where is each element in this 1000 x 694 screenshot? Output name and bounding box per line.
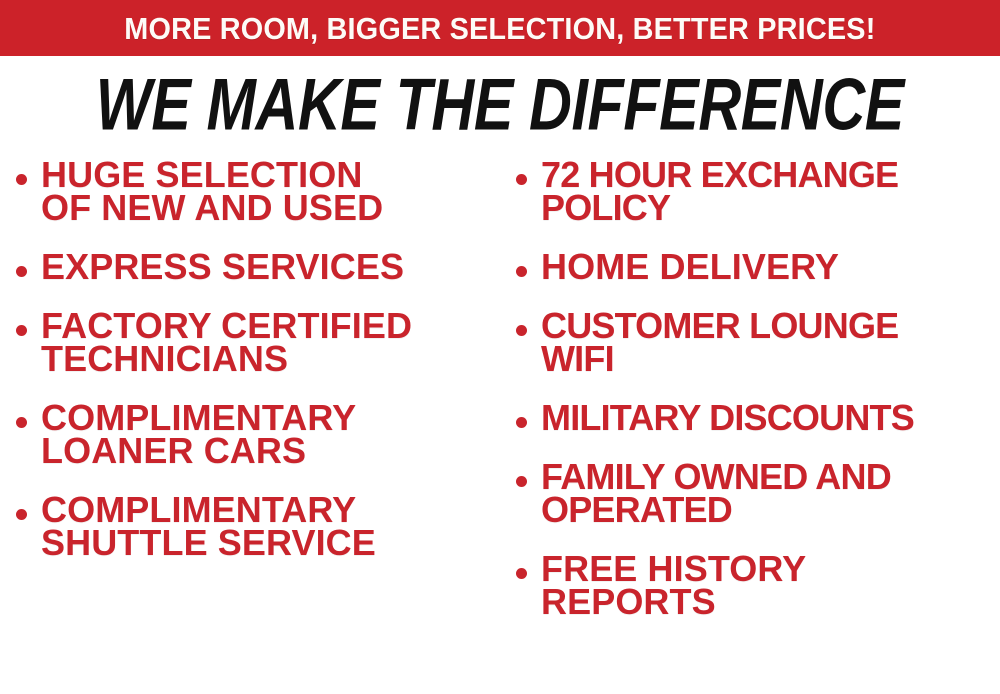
list-item: COMPLIMENTARY LOANER CARS [16,401,500,467]
list-item: MILITARY DISCOUNTS [516,401,1000,434]
list-item-label: HOME DELIVERY [541,250,839,283]
list-item-label: FACTORY CERTIFIED TECHNICIANS [41,309,412,375]
list-item: HOME DELIVERY [516,250,1000,283]
list-item: FREE HISTORY REPORTS [516,552,1000,618]
bullet-dot-icon [16,417,27,428]
bullet-dot-icon [516,476,527,487]
list-item-label: HUGE SELECTION OF NEW AND USED [41,158,383,224]
list-item: FACTORY CERTIFIED TECHNICIANS [16,309,500,375]
bullet-dot-icon [516,174,527,185]
features-columns: HUGE SELECTION OF NEW AND USED EXPRESS S… [0,158,1000,694]
list-item-label: EXPRESS SERVICES [41,250,404,283]
bullet-dot-icon [516,568,527,579]
list-item-label: COMPLIMENTARY SHUTTLE SERVICE [41,493,376,559]
list-item: 72 HOUR EXCHANGE POLICY [516,158,1000,224]
features-column-left: HUGE SELECTION OF NEW AND USED EXPRESS S… [0,158,500,585]
page-title-text: WE MAKE THE DIFFERENCE [96,68,904,141]
bullet-dot-icon [16,509,27,520]
bullet-dot-icon [516,417,527,428]
list-item-label: MILITARY DISCOUNTS [541,401,914,434]
list-item: CUSTOMER LOUNGE WIFI [516,309,1000,375]
bullet-dot-icon [516,266,527,277]
banner-headline-text: MORE ROOM, BIGGER SELECTION, BETTER PRIC… [124,13,875,44]
list-item: HUGE SELECTION OF NEW AND USED [16,158,500,224]
bullet-dot-icon [16,325,27,336]
list-item-label: FAMILY OWNED AND OPERATED [541,460,891,526]
promo-poster: MORE ROOM, BIGGER SELECTION, BETTER PRIC… [0,0,1000,694]
bullet-dot-icon [16,174,27,185]
list-item: EXPRESS SERVICES [16,250,500,283]
bullet-dot-icon [16,266,27,277]
list-item-label: FREE HISTORY REPORTS [541,552,806,618]
list-item: FAMILY OWNED AND OPERATED [516,460,1000,526]
list-item: COMPLIMENTARY SHUTTLE SERVICE [16,493,500,559]
bullet-dot-icon [516,325,527,336]
features-column-right: 72 HOUR EXCHANGE POLICY HOME DELIVERY CU… [500,158,1000,644]
list-item-label: 72 HOUR EXCHANGE POLICY [541,158,898,224]
list-item-label: COMPLIMENTARY LOANER CARS [41,401,356,467]
page-title: WE MAKE THE DIFFERENCE [0,68,1000,137]
list-item-label: CUSTOMER LOUNGE WIFI [541,309,898,375]
top-banner: MORE ROOM, BIGGER SELECTION, BETTER PRIC… [0,0,1000,56]
